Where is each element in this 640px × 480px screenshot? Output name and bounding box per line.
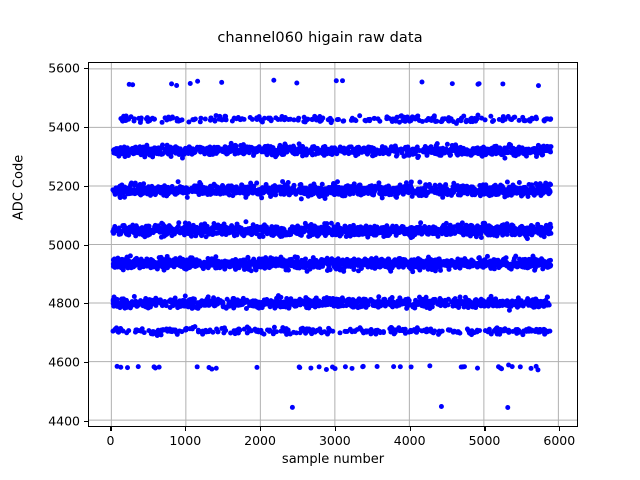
y-tick-label: 5000 [20,237,80,252]
figure-canvas: channel060 higain raw data 4400460048005… [0,0,640,480]
x-tick-label: 0 [106,433,114,448]
y-axis-label: ADC Code [12,128,27,248]
y-tick-label: 4600 [20,355,80,370]
y-tick-label: 5200 [20,178,80,193]
x-tick-mark [260,427,261,431]
x-tick-label: 6000 [543,433,575,448]
y-tick-label: 4800 [20,296,80,311]
y-tick-mark [84,362,88,363]
x-tick-label: 4000 [394,433,426,448]
page-title: channel060 higain raw data [0,30,640,46]
y-tick-label: 4400 [20,414,80,429]
y-tick-mark [84,68,88,69]
x-tick-label: 1000 [169,433,201,448]
x-tick-mark [484,427,485,431]
x-tick-mark [185,427,186,431]
y-tick-mark [84,186,88,187]
y-tick-label: 5600 [20,60,80,75]
x-tick-mark [410,427,411,431]
y-tick-mark [84,245,88,246]
plot-area [88,62,578,427]
x-tick-mark [335,427,336,431]
x-tick-mark [110,427,111,431]
y-tick-mark [84,303,88,304]
x-axis-label: sample number [88,452,578,467]
x-tick-label: 2000 [244,433,276,448]
x-tick-label: 3000 [319,433,351,448]
x-tick-mark [559,427,560,431]
y-tick-label: 5400 [20,119,80,134]
y-tick-mark [84,127,88,128]
x-tick-label: 5000 [469,433,501,448]
scatter-points [89,63,577,426]
y-tick-mark [84,421,88,422]
